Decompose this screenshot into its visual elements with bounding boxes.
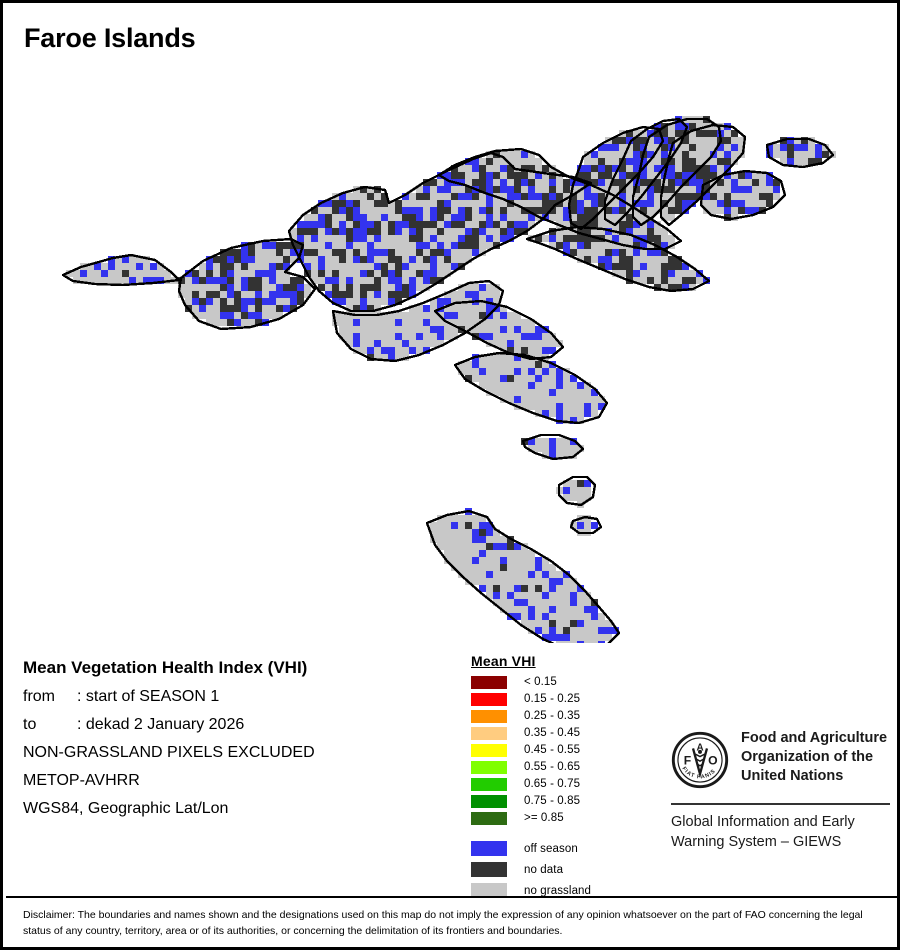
info-row-from: from : start of SEASON 1 (23, 688, 453, 706)
info-from-key: from (23, 688, 77, 706)
legend-class-label: 0.15 - 0.25 (524, 693, 580, 705)
legend-class-3: 0.35 - 0.45 (471, 725, 661, 741)
fao-org-line-3: United Nations (741, 767, 887, 786)
legend-title: Mean VHI (471, 653, 661, 669)
legend-class-label: 0.75 - 0.85 (524, 795, 580, 807)
map-svg (3, 53, 897, 643)
legend-class-5: 0.55 - 0.65 (471, 759, 661, 775)
legend-class-label: 0.45 - 0.55 (524, 744, 580, 756)
legend-class-swatch (471, 727, 507, 740)
legend-class-8: >= 0.85 (471, 810, 661, 826)
fao-logo-row: F A O FIAT PANIS Food and A (671, 729, 891, 794)
legend-class-2: 0.25 - 0.35 (471, 708, 661, 724)
svg-text:F: F (684, 754, 691, 768)
legend-class-label: 0.55 - 0.65 (524, 761, 580, 773)
legend-status-label: no grassland (524, 885, 591, 897)
legend-spacer (471, 827, 661, 839)
legend-status-label: off season (524, 843, 578, 855)
legend-class-6: 0.65 - 0.75 (471, 776, 661, 792)
info-to-value: : dekad 2 January 2026 (77, 716, 244, 734)
fao-org-line-1: Food and Agriculture (741, 729, 887, 748)
map-page: Faroe Islands Mean Vegetation Health Ind… (0, 0, 900, 950)
fao-emblem-icon: F A O FIAT PANIS (671, 731, 729, 794)
legend-class-list: < 0.150.15 - 0.250.25 - 0.350.35 - 0.450… (471, 674, 661, 826)
legend-class-label: 0.25 - 0.35 (524, 710, 580, 722)
info-row-to: to : dekad 2 January 2026 (23, 716, 453, 734)
legend-class-0: < 0.15 (471, 674, 661, 690)
legend-class-label: >= 0.85 (524, 812, 564, 824)
map-image[interactable] (3, 53, 897, 643)
info-to-key: to (23, 716, 77, 734)
legend-class-label: 0.65 - 0.75 (524, 778, 580, 790)
legend-class-7: 0.75 - 0.85 (471, 793, 661, 809)
legend-class-swatch (471, 676, 507, 689)
legend-class-label: < 0.15 (524, 676, 557, 688)
legend-class-swatch (471, 744, 507, 757)
fao-divider (671, 803, 890, 805)
legend: Mean VHI < 0.150.15 - 0.250.25 - 0.350.3… (471, 653, 661, 902)
page-title: Faroe Islands (24, 23, 195, 54)
map-info-block: Mean Vegetation Health Index (VHI) from … (23, 658, 453, 828)
legend-class-swatch (471, 693, 507, 706)
fao-org-line-2: Organization of the (741, 748, 887, 767)
disclaimer-divider (6, 896, 900, 898)
legend-status-0: off season (471, 839, 661, 858)
info-heading: Mean Vegetation Health Index (VHI) (23, 658, 453, 678)
disclaimer-text: Disclaimer: The boundaries and names sho… (23, 907, 878, 940)
info-from-value: : start of SEASON 1 (77, 688, 219, 706)
island-raster-mykines (66, 256, 178, 284)
fao-branding: F A O FIAT PANIS Food and A (671, 729, 891, 852)
giews-line-2: Warning System – GIEWS (671, 833, 891, 853)
info-line-sensor: METOP-AVHRR (23, 772, 453, 790)
legend-class-swatch (471, 778, 507, 791)
legend-status-1: no data (471, 860, 661, 879)
legend-status-label: no data (524, 864, 563, 876)
legend-status-swatch (471, 862, 507, 877)
legend-class-1: 0.15 - 0.25 (471, 691, 661, 707)
island-raster-vagar (178, 242, 311, 326)
info-line-projection: WGS84, Geographic Lat/Lon (23, 800, 453, 818)
fao-org-name: Food and Agriculture Organization of the… (741, 729, 887, 786)
legend-class-swatch (471, 710, 507, 723)
legend-class-swatch (471, 795, 507, 808)
legend-class-4: 0.45 - 0.55 (471, 742, 661, 758)
legend-status-list: off seasonno datano grassland (471, 839, 661, 900)
legend-class-swatch (471, 812, 507, 825)
info-line-exclusion: NON-GRASSLAND PIXELS EXCLUDED (23, 744, 453, 762)
giews-name: Global Information and Early Warning Sys… (671, 813, 891, 852)
legend-class-swatch (471, 761, 507, 774)
legend-status-swatch (471, 841, 507, 856)
giews-line-1: Global Information and Early (671, 813, 891, 833)
legend-class-label: 0.35 - 0.45 (524, 727, 580, 739)
svg-text:O: O (708, 754, 717, 768)
